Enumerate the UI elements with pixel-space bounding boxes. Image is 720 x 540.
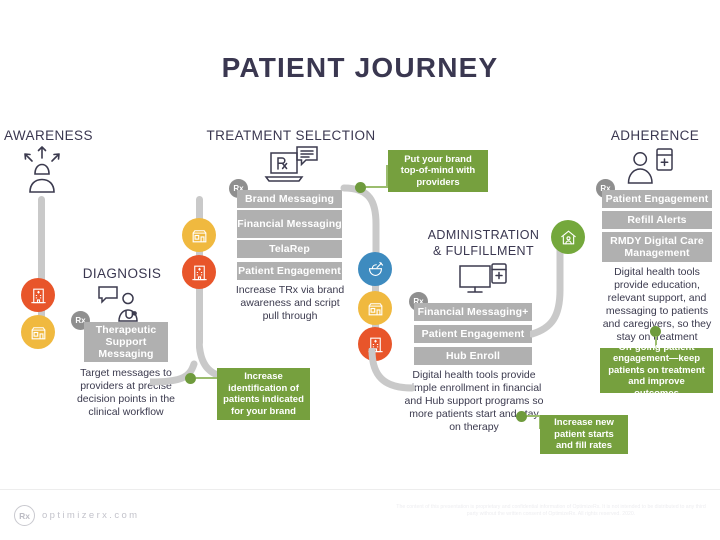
node-mortar-pestle-administration <box>358 252 392 286</box>
copy-treatment-selection: Increase TRx via brand awareness and scr… <box>232 284 348 323</box>
megaphone-broadcast-person-icon <box>14 144 70 200</box>
callout-ongoing-engagement: On-going patient engagement—keep patient… <box>600 348 713 393</box>
callout-leader-brand-top-of-mind <box>366 186 388 188</box>
laptop-rx-message-icon <box>261 143 321 187</box>
monitor-pillbottle-icon <box>455 258 513 300</box>
footer-divider <box>0 489 720 490</box>
callout-dot-increase-new-starts <box>516 411 527 422</box>
stage-label-treatment-selection: TREATMENT SELECTION <box>196 128 386 143</box>
stage-label-adherence: ADHERENCE <box>590 128 720 143</box>
tag-telarep: TelaRep <box>237 240 342 258</box>
patient-journey-infographic: PATIENT JOURNEY AWARENESS DIAGNO <box>0 0 720 540</box>
tag-financial-messaging-plus: Financial Messaging+ <box>414 303 532 321</box>
tag-patient-engagement-adherence: Patient Engagement <box>602 190 712 208</box>
tag-patient-engagement-administration: Patient Engagement <box>414 325 532 343</box>
tag-financial-messaging: Financial Messaging <box>237 210 342 238</box>
footer-legal-text: The content of this presentation is prop… <box>392 504 710 519</box>
tag-brand-messaging: Brand Messaging <box>237 190 342 208</box>
callout-brand-top-of-mind: Put your brand top-of-mind with provider… <box>388 150 488 192</box>
node-pharmacy-treatment <box>182 218 216 252</box>
tag-rmdy-digital-care-management: RMDY Digital Care Management <box>602 232 712 262</box>
page-title: PATIENT JOURNEY <box>0 52 720 84</box>
rx-logo-icon: Rx <box>14 505 35 526</box>
tag-patient-engagement-treatment: Patient Engagement <box>237 262 342 280</box>
footer-site-url: optimizerx.com <box>42 510 139 521</box>
callout-leader-increase-identification <box>196 377 218 379</box>
node-hospital-awareness <box>21 278 55 312</box>
node-pharmacy-administration <box>358 291 392 325</box>
node-hospital-treatment <box>182 255 216 289</box>
callout-dot-brand-top-of-mind <box>355 182 366 193</box>
callout-increase-identification: Increase identification of patients indi… <box>217 368 310 420</box>
callout-dot-increase-identification <box>185 373 196 384</box>
callout-increase-new-starts: Increase new patient starts and fill rat… <box>540 415 628 454</box>
tag-refill-alerts: Refill Alerts <box>602 211 712 229</box>
node-home-adherence <box>551 220 585 254</box>
node-pharmacy-awareness <box>21 315 55 349</box>
patient-pillbottle-icon <box>625 143 683 187</box>
journey-track-administration-connector <box>368 348 458 408</box>
stage-label-awareness: AWARENESS <box>0 128 154 143</box>
footer-logo: Rx optimizerx.com <box>14 505 139 526</box>
stage-label-diagnosis: DIAGNOSIS <box>62 266 182 281</box>
doctor-speech-bubble-icon <box>93 283 151 325</box>
